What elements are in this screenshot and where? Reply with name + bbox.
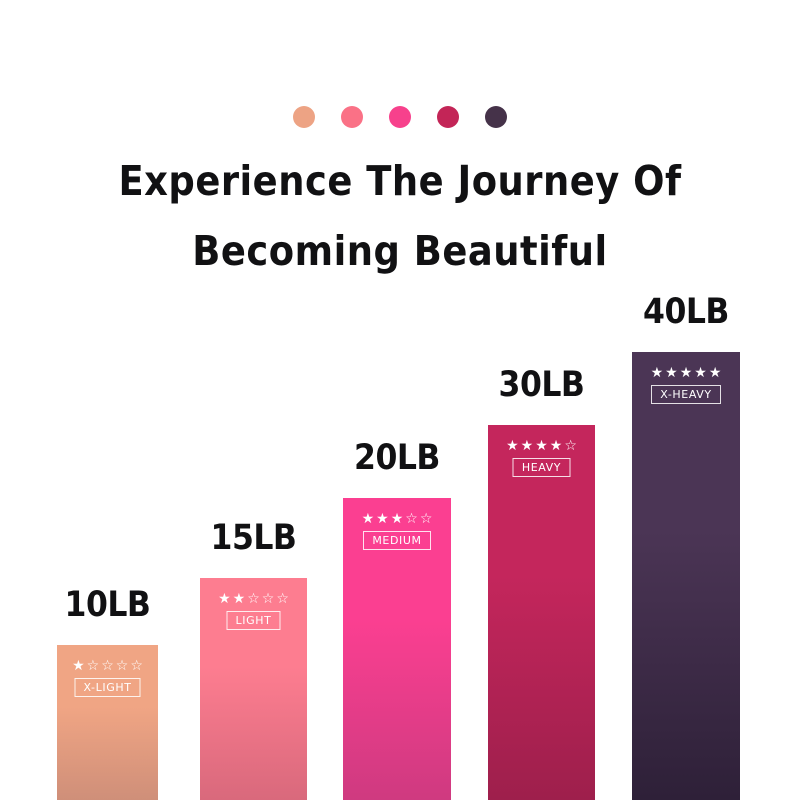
weight-label-20lb: 20LB (354, 441, 440, 476)
bar-group-15lb[interactable]: 15LB★★☆☆☆LIGHT (200, 0, 307, 800)
star-filled-icon: ★ (506, 439, 519, 453)
bar-group-20lb[interactable]: 20LB★★★☆☆MEDIUM (343, 0, 451, 800)
star-filled-icon: ★ (376, 512, 389, 526)
level-label-x-light: X-LIGHT (74, 678, 140, 697)
star-empty-icon: ☆ (116, 659, 129, 673)
star-empty-icon: ☆ (101, 659, 114, 673)
star-rating-40lb: ★★★★★ (651, 366, 722, 380)
star-filled-icon: ★ (233, 592, 246, 606)
star-filled-icon: ★ (665, 366, 678, 380)
star-empty-icon: ☆ (247, 592, 260, 606)
star-filled-icon: ★ (362, 512, 375, 526)
star-rating-10lb: ★☆☆☆☆ (72, 659, 143, 673)
badge-x-heavy: ★★★★★X-HEAVY (632, 366, 740, 404)
badge-x-light: ★☆☆☆☆X-LIGHT (57, 659, 158, 697)
star-filled-icon: ★ (651, 366, 664, 380)
level-label-heavy: HEAVY (513, 458, 570, 477)
star-empty-icon: ☆ (276, 592, 289, 606)
bar-40lb[interactable] (632, 352, 740, 800)
star-rating-20lb: ★★★☆☆ (362, 512, 433, 526)
star-rating-30lb: ★★★★☆ (506, 439, 577, 453)
resistance-bar-chart: 10LB★☆☆☆☆X-LIGHT15LB★★☆☆☆LIGHT20LB★★★☆☆M… (0, 0, 800, 800)
star-empty-icon: ☆ (420, 512, 433, 526)
star-empty-icon: ☆ (262, 592, 275, 606)
star-rating-15lb: ★★☆☆☆ (218, 592, 289, 606)
star-filled-icon: ★ (694, 366, 707, 380)
badge-medium: ★★★☆☆MEDIUM (343, 512, 451, 550)
product-infographic: Experience The Journey Of Becoming Beaut… (0, 0, 800, 800)
star-empty-icon: ☆ (130, 659, 143, 673)
weight-label-15lb: 15LB (211, 521, 297, 556)
weight-label-10lb: 10LB (65, 588, 151, 623)
star-filled-icon: ★ (550, 439, 563, 453)
star-empty-icon: ☆ (405, 512, 418, 526)
bar-group-30lb[interactable]: 30LB★★★★☆HEAVY (488, 0, 595, 800)
bar-group-40lb[interactable]: 40LB★★★★★X-HEAVY (632, 0, 740, 800)
bar-group-10lb[interactable]: 10LB★☆☆☆☆X-LIGHT (57, 0, 158, 800)
badge-heavy: ★★★★☆HEAVY (488, 439, 595, 477)
star-filled-icon: ★ (709, 366, 722, 380)
weight-label-40lb: 40LB (643, 295, 729, 330)
star-filled-icon: ★ (521, 439, 534, 453)
star-filled-icon: ★ (218, 592, 231, 606)
star-filled-icon: ★ (391, 512, 404, 526)
star-filled-icon: ★ (535, 439, 548, 453)
badge-light: ★★☆☆☆LIGHT (200, 592, 307, 630)
level-label-light: LIGHT (227, 611, 281, 630)
star-filled-icon: ★ (72, 659, 85, 673)
bar-30lb[interactable] (488, 425, 595, 800)
star-empty-icon: ☆ (87, 659, 100, 673)
star-empty-icon: ☆ (564, 439, 577, 453)
star-filled-icon: ★ (680, 366, 693, 380)
level-label-medium: MEDIUM (363, 531, 430, 550)
level-label-x-heavy: X-HEAVY (651, 385, 720, 404)
weight-label-30lb: 30LB (499, 368, 585, 403)
